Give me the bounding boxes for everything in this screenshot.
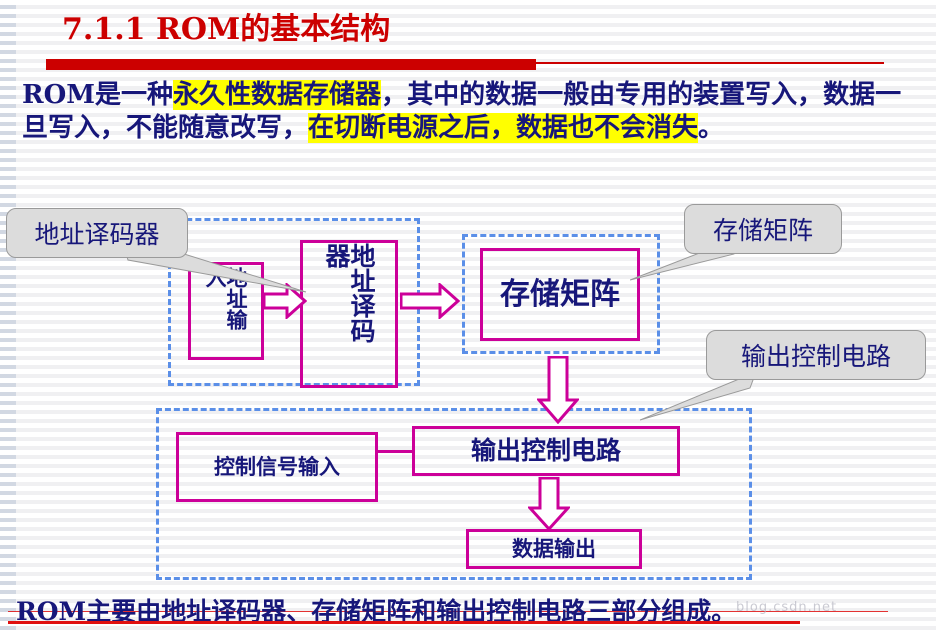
block-storage-matrix-label: 存储矩阵 <box>500 278 620 312</box>
slide-canvas: 7.1.1 ROM的基本结构 ROM是一种永久性数据存储器，其中的数据一般由专用… <box>0 0 936 633</box>
body-paragraph: ROM是一种永久性数据存储器，其中的数据一般由专用的装置写入，数据一旦写入，不能… <box>22 79 922 145</box>
body-segment-3: 。 <box>698 113 724 143</box>
block-control-signal-input-label: 控制信号输入 <box>214 455 340 479</box>
watermark-text: blog.csdn.net <box>736 600 837 615</box>
callout-storage-matrix[interactable]: 存储矩阵 <box>684 204 842 254</box>
title-underline-thin <box>536 62 884 64</box>
callout-storage-matrix-label: 存储矩阵 <box>713 211 813 247</box>
block-address-decoder[interactable]: 地址译码 器 <box>300 240 398 388</box>
block-output-control-circuit[interactable]: 输出控制电路 <box>412 426 680 476</box>
arrow-output-control-to-data-output-icon <box>528 477 570 531</box>
arrow-decoder-to-matrix-icon <box>400 283 460 319</box>
block-data-output-label: 数据输出 <box>512 537 596 561</box>
callout-output-control-circuit[interactable]: 输出控制电路 <box>706 330 926 380</box>
block-address-decoder-col-tail: 器 <box>324 243 349 268</box>
block-address-decoder-col-main: 地址译码 <box>349 243 374 343</box>
block-storage-matrix[interactable]: 存储矩阵 <box>480 248 640 341</box>
block-output-control-circuit-label: 输出控制电路 <box>471 437 621 465</box>
arrow-matrix-to-output-control-icon <box>537 356 579 424</box>
page-title: 7.1.1 ROM的基本结构 <box>62 4 390 48</box>
body-segment-1: ROM是一种 <box>22 80 173 110</box>
block-data-output[interactable]: 数据输出 <box>466 529 642 569</box>
block-control-signal-input[interactable]: 控制信号输入 <box>176 432 378 502</box>
callout-address-decoder[interactable]: 地址译码器 <box>6 208 188 258</box>
body-highlight-1: 永久性数据存储器 <box>173 80 381 110</box>
footer-rule-thick <box>8 621 800 624</box>
title-underline-thick <box>46 59 536 70</box>
connector-control-input-to-output-control <box>378 450 414 453</box>
left-margin-band <box>0 0 16 633</box>
callout-output-control-circuit-label: 输出控制电路 <box>741 337 891 373</box>
callout-address-decoder-label: 地址译码器 <box>34 215 159 251</box>
body-highlight-2: 在切断电源之后，数据也不会消失 <box>308 113 698 143</box>
